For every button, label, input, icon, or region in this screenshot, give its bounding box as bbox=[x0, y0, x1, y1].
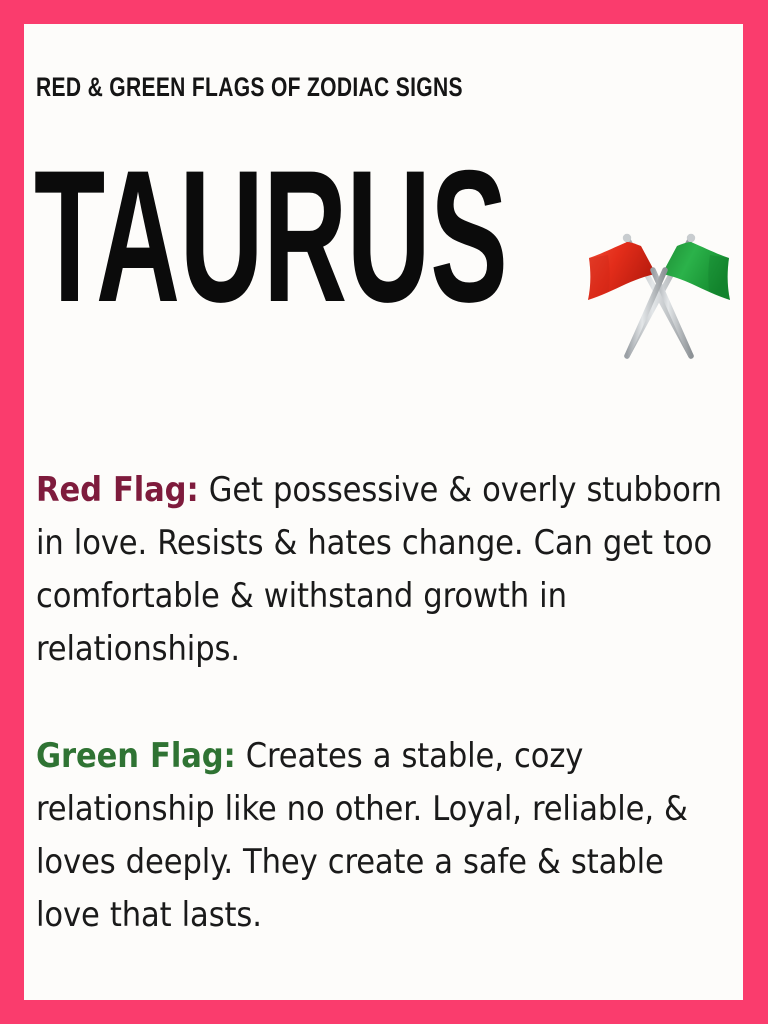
page-title: TAURUS bbox=[34, 142, 507, 330]
red-flag-paragraph: Red Flag: Get possessive & overly stubbo… bbox=[36, 464, 726, 676]
green-flag-label: Green Flag: bbox=[36, 736, 236, 776]
green-flag-paragraph: Green Flag: Creates a stable, cozy relat… bbox=[36, 730, 726, 942]
red-flag-label: Red Flag: bbox=[36, 470, 199, 510]
page-kicker: RED & GREEN FLAGS OF ZODIAC SIGNS bbox=[36, 74, 463, 101]
poster-card: RED & GREEN FLAGS OF ZODIAC SIGNS TAURUS bbox=[24, 24, 743, 1000]
crossed-flags-icon bbox=[579, 224, 739, 369]
poster-frame: RED & GREEN FLAGS OF ZODIAC SIGNS TAURUS bbox=[0, 0, 768, 1024]
